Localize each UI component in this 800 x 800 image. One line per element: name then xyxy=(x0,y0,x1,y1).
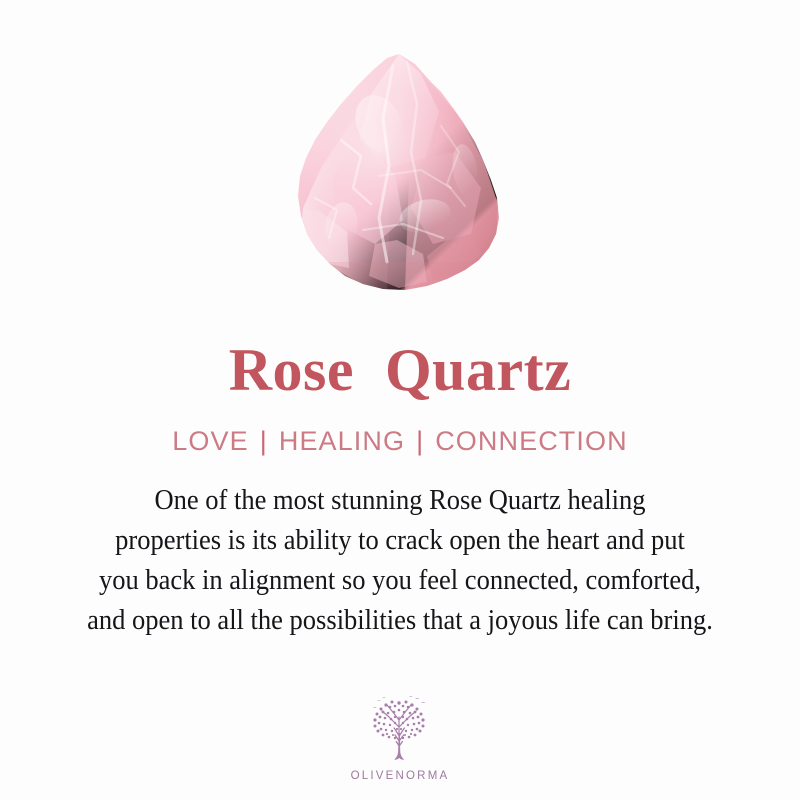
description-line: One of the most stunning Rose Quartz hea… xyxy=(47,481,754,521)
keyword-connection: CONNECTION xyxy=(435,428,628,455)
keyword-separator: | xyxy=(260,428,268,455)
keyword-separator: | xyxy=(416,428,424,455)
rose-quartz-crystal-image xyxy=(275,48,525,310)
description-line: properties is its ability to crack open … xyxy=(47,521,754,561)
description-line: and open to all the possibilities that a… xyxy=(47,601,754,641)
tree-of-life-icon xyxy=(361,695,439,767)
page-title: Rose Quartz xyxy=(229,340,572,400)
brand-logo: OLIVENORMA xyxy=(0,695,800,782)
product-info-card: Rose Quartz LOVE | HEALING | CONNECTION … xyxy=(0,0,800,800)
description-line: you back in alignment so you feel connec… xyxy=(47,561,754,601)
keyword-tagline: LOVE | HEALING | CONNECTION xyxy=(172,428,627,455)
keyword-love: LOVE xyxy=(172,428,248,455)
description-text: One of the most stunning Rose Quartz hea… xyxy=(47,481,754,641)
brand-wordmark: OLIVENORMA xyxy=(351,770,450,782)
rose-quartz-crystal-icon xyxy=(275,48,525,310)
hero-image-area xyxy=(0,0,800,318)
keyword-healing: HEALING xyxy=(279,428,405,455)
